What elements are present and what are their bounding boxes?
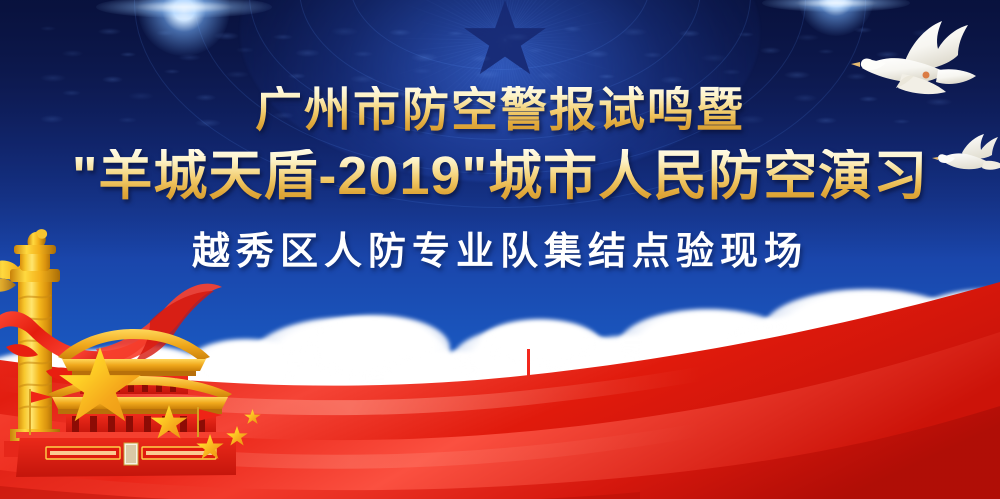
poster-title-line-2: "羊城天盾-2019"城市人民防空演习	[0, 149, 1000, 203]
poster-title-line-1: 广州市防空警报试鸣暨	[0, 86, 1000, 133]
title-block: 广州市防空警报试鸣暨 "羊城天盾-2019"城市人民防空演习 越秀区人防专业队集…	[0, 86, 1000, 271]
poster-banner: 广州市防空警报试鸣暨 "羊城天盾-2019"城市人民防空演习 越秀区人防专业队集…	[0, 0, 1000, 499]
poster-subtitle: 越秀区人防专业队集结点验现场	[0, 233, 1000, 271]
